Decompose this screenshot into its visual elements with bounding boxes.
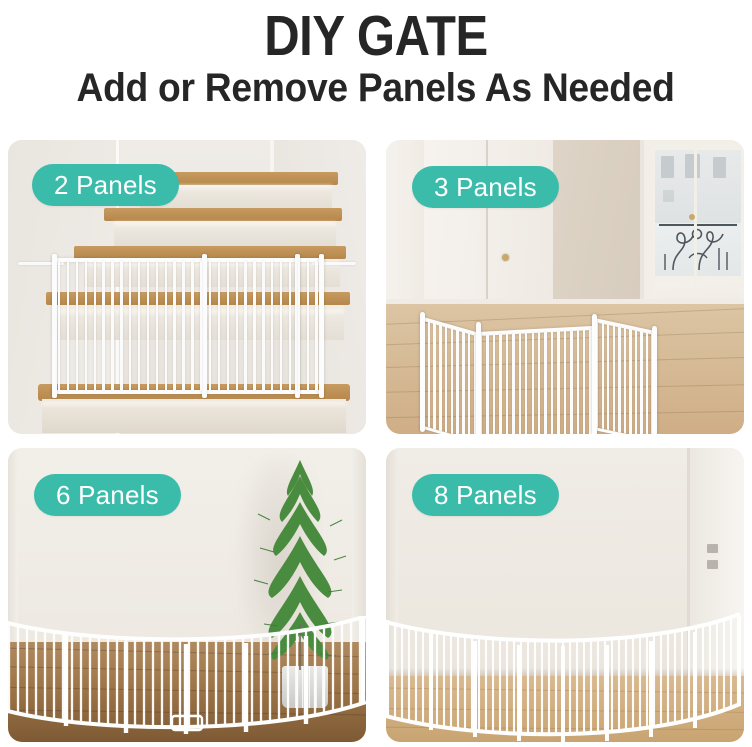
panel-tile-6[interactable]: 6 Panels bbox=[8, 448, 366, 742]
stair-glow bbox=[114, 222, 336, 227]
gate-bars bbox=[480, 329, 592, 434]
gate-post bbox=[592, 314, 597, 434]
page-subtitle: Add or Remove Panels As Needed bbox=[77, 65, 675, 111]
gate-8-panel bbox=[386, 612, 744, 742]
header: DIY GATE Add or Remove Panels As Needed bbox=[0, 0, 752, 132]
exterior-window bbox=[685, 154, 700, 178]
badge-panel-count: 8 Panels bbox=[412, 474, 559, 516]
stair-glow bbox=[42, 402, 346, 407]
french-door-glass bbox=[653, 148, 743, 278]
badge-panel-count: 2 Panels bbox=[32, 164, 179, 206]
gate-bars bbox=[422, 320, 476, 434]
panel-gallery-grid: 2 Panels bbox=[8, 140, 744, 740]
gate-post bbox=[387, 616, 739, 742]
gate-post bbox=[652, 326, 657, 434]
badge-panel-count: 3 Panels bbox=[412, 166, 559, 208]
wrought-iron-balcony-icon bbox=[659, 218, 737, 272]
gate-panel-left bbox=[420, 316, 478, 434]
gate-post bbox=[420, 312, 425, 432]
panel-tile-3[interactable]: 3 Panels bbox=[386, 140, 744, 434]
door-knob-icon bbox=[502, 254, 509, 261]
gate-panel-middle bbox=[478, 326, 594, 434]
exterior-window bbox=[661, 156, 674, 178]
exterior-window bbox=[663, 190, 674, 202]
exterior-building bbox=[655, 150, 741, 223]
door-hardware-icon bbox=[707, 560, 718, 569]
stair-tread bbox=[104, 208, 342, 221]
door-hardware-icon bbox=[707, 544, 718, 553]
french-door-handle-icon bbox=[689, 214, 695, 220]
panel-tile-8[interactable]: 8 Panels bbox=[386, 448, 744, 742]
gate-post bbox=[52, 254, 57, 398]
badge-panel-count: 6 Panels bbox=[34, 474, 181, 516]
gate-post bbox=[476, 322, 481, 434]
gate-2-panel bbox=[52, 258, 324, 394]
gate-bars bbox=[596, 321, 654, 434]
page-title: DIY GATE bbox=[264, 5, 488, 67]
gate-panel-right bbox=[594, 318, 656, 434]
panel-tile-2[interactable]: 2 Panels bbox=[8, 140, 366, 434]
infographic-page: DIY GATE Add or Remove Panels As Needed bbox=[0, 0, 752, 747]
gate-3-panel bbox=[420, 316, 650, 428]
exterior-window bbox=[713, 157, 726, 178]
gate-6-panel bbox=[8, 616, 366, 738]
gate-post bbox=[319, 254, 324, 398]
gate-bars bbox=[58, 261, 318, 391]
